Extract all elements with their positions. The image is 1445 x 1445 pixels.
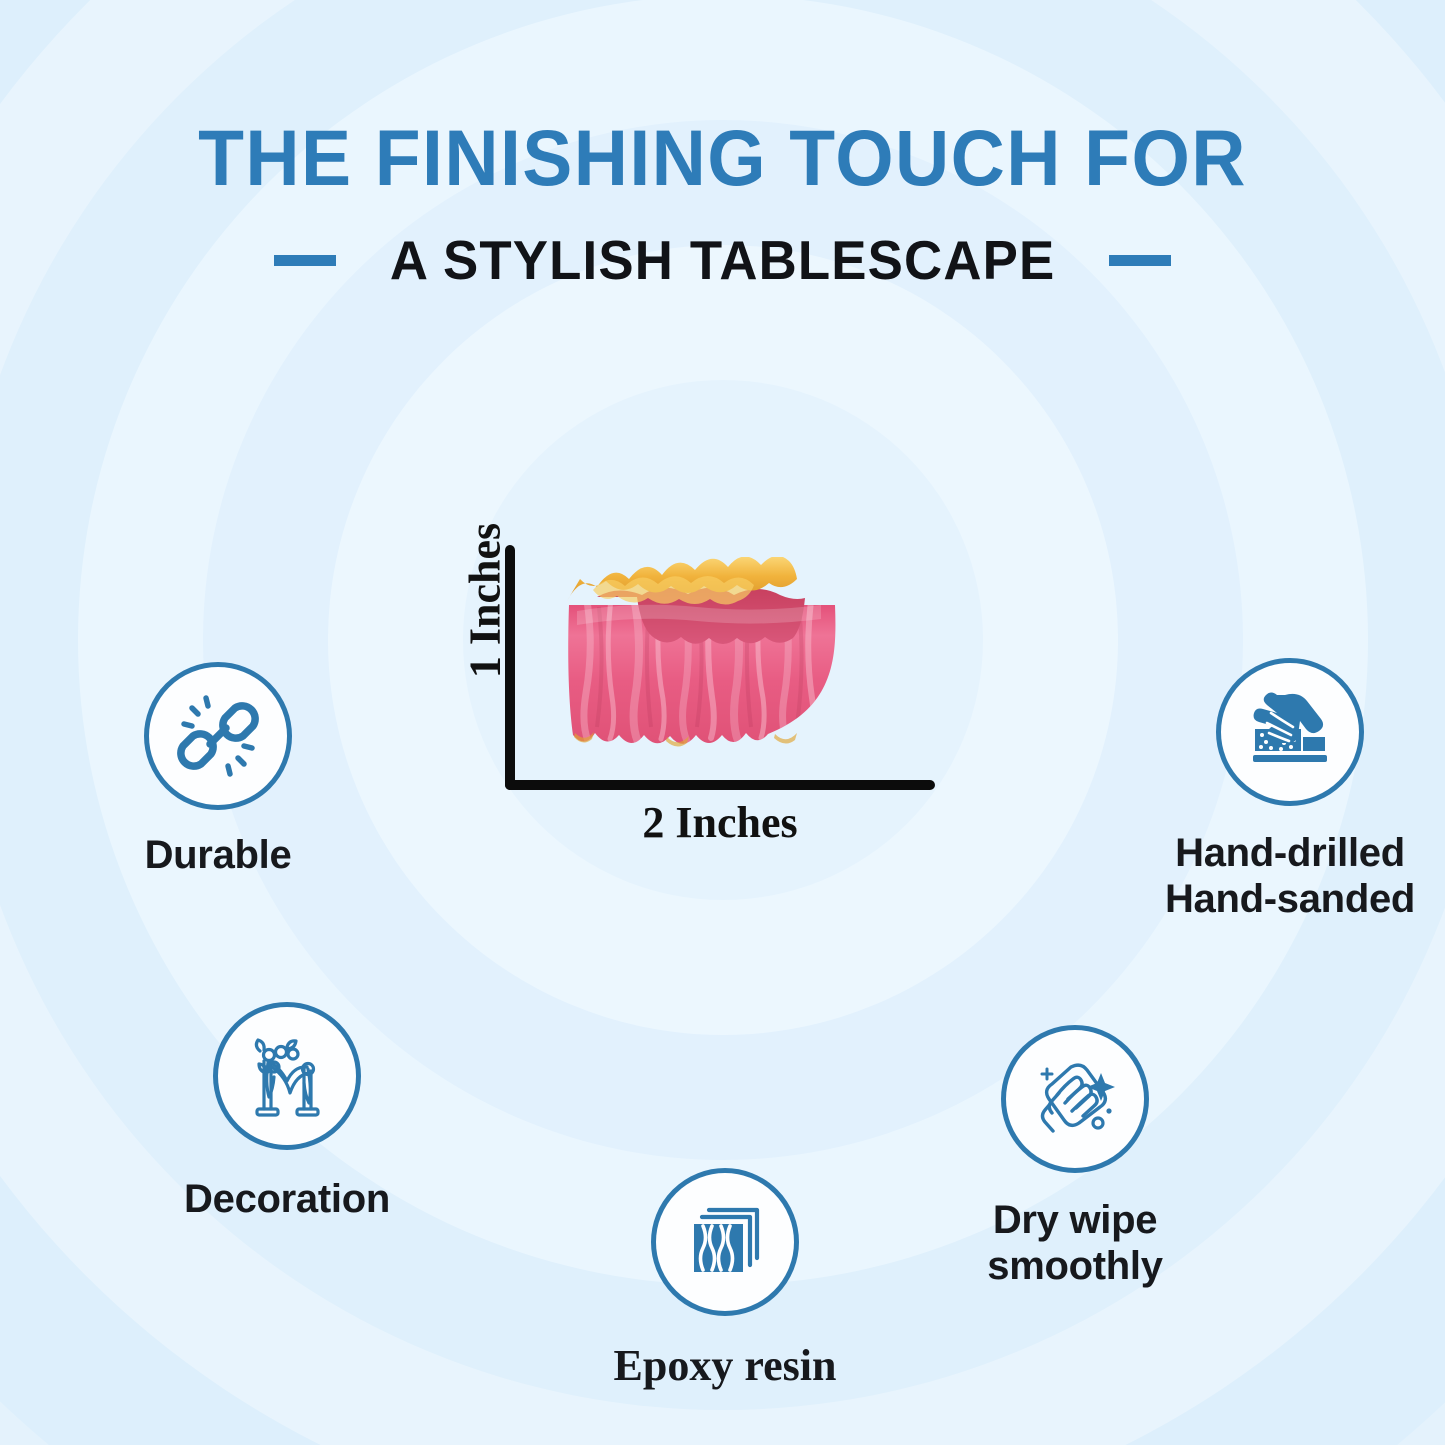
feature-label-epoxy-resin: Epoxy resin	[575, 1340, 875, 1391]
feature-decoration: Decoration	[137, 1002, 437, 1222]
feature-hand-drilled-sanded: Hand-drilled Hand-sanded	[1130, 658, 1445, 923]
page-subtitle: A STYLISH TABLESCAPE	[390, 228, 1055, 292]
chain-link-icon	[144, 662, 292, 810]
wedding-arch-icon	[213, 1002, 361, 1150]
dash-right-decoration	[1109, 255, 1171, 266]
feature-label-hand-drilled-sanded: Hand-drilled Hand-sanded	[1130, 830, 1445, 923]
feature-epoxy-resin: Epoxy resin	[575, 1168, 875, 1391]
dash-left-decoration	[274, 255, 336, 266]
product-image-napkin-ring	[563, 557, 841, 775]
layered-sheets-icon	[651, 1168, 799, 1316]
headline-block: THE FINISHING TOUCH FOR	[0, 118, 1445, 199]
feature-label-durable: Durable	[68, 832, 368, 878]
feature-label-decoration: Decoration	[137, 1176, 437, 1222]
horizontal-axis-line	[505, 780, 935, 790]
width-dimension-label: 2 Inches	[505, 797, 935, 848]
product-dimension-diagram: 1 Inches 2 Inches	[455, 535, 955, 835]
feature-durable: Durable	[68, 662, 368, 878]
hand-wiping-cloth-icon	[1001, 1025, 1149, 1173]
hand-sanding-icon	[1216, 658, 1364, 806]
feature-label-dry-wipe: Dry wipe smoothly	[925, 1197, 1225, 1290]
height-dimension-label: 1 Inches	[460, 491, 511, 711]
infographic-canvas: THE FINISHING TOUCH FOR A STYLISH TABLES…	[0, 0, 1445, 1445]
subtitle-row: A STYLISH TABLESCAPE	[0, 228, 1445, 292]
page-title: THE FINISHING TOUCH FOR	[36, 118, 1409, 199]
feature-dry-wipe: Dry wipe smoothly	[925, 1025, 1225, 1290]
